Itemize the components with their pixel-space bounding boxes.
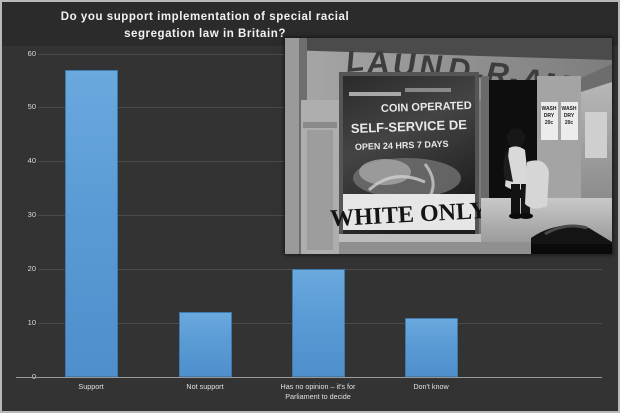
svg-text:DRY: DRY <box>544 113 555 119</box>
x-axis-line <box>16 377 602 378</box>
svg-text:WASH: WASH <box>542 106 557 112</box>
bar-support[interactable] <box>65 70 118 377</box>
slide-canvas: Do you support implementation of special… <box>0 0 620 413</box>
ytick-label-40: 40 <box>14 157 36 165</box>
svg-text:DRY: DRY <box>564 113 575 119</box>
ytick-label-20: 20 <box>14 265 36 273</box>
svg-text:WASH: WASH <box>562 106 577 112</box>
bar-not-support[interactable] <box>179 312 232 377</box>
ytick-label-30: 30 <box>14 211 36 219</box>
xtick-label-dont-know: Don't know <box>366 382 496 392</box>
ytick-label-10: 10 <box>14 319 36 327</box>
bar-dont-know[interactable] <box>405 318 458 377</box>
svg-text:20c: 20c <box>565 120 574 126</box>
xtick-label-support: Support <box>26 382 156 392</box>
segregated-laundromat-photo: L A U N D - R - A M A COIN OPERATED SELF <box>285 38 612 254</box>
ytick-label-60: 60 <box>14 50 36 58</box>
xtick-label-no-opinion: Has no opinion – it's for Parliament to … <box>253 382 383 401</box>
bar-no-opinion[interactable] <box>292 269 345 377</box>
xtick-label-not-support: Not support <box>140 382 270 392</box>
svg-text:20c: 20c <box>545 120 554 126</box>
ytick-label-50: 50 <box>14 103 36 111</box>
